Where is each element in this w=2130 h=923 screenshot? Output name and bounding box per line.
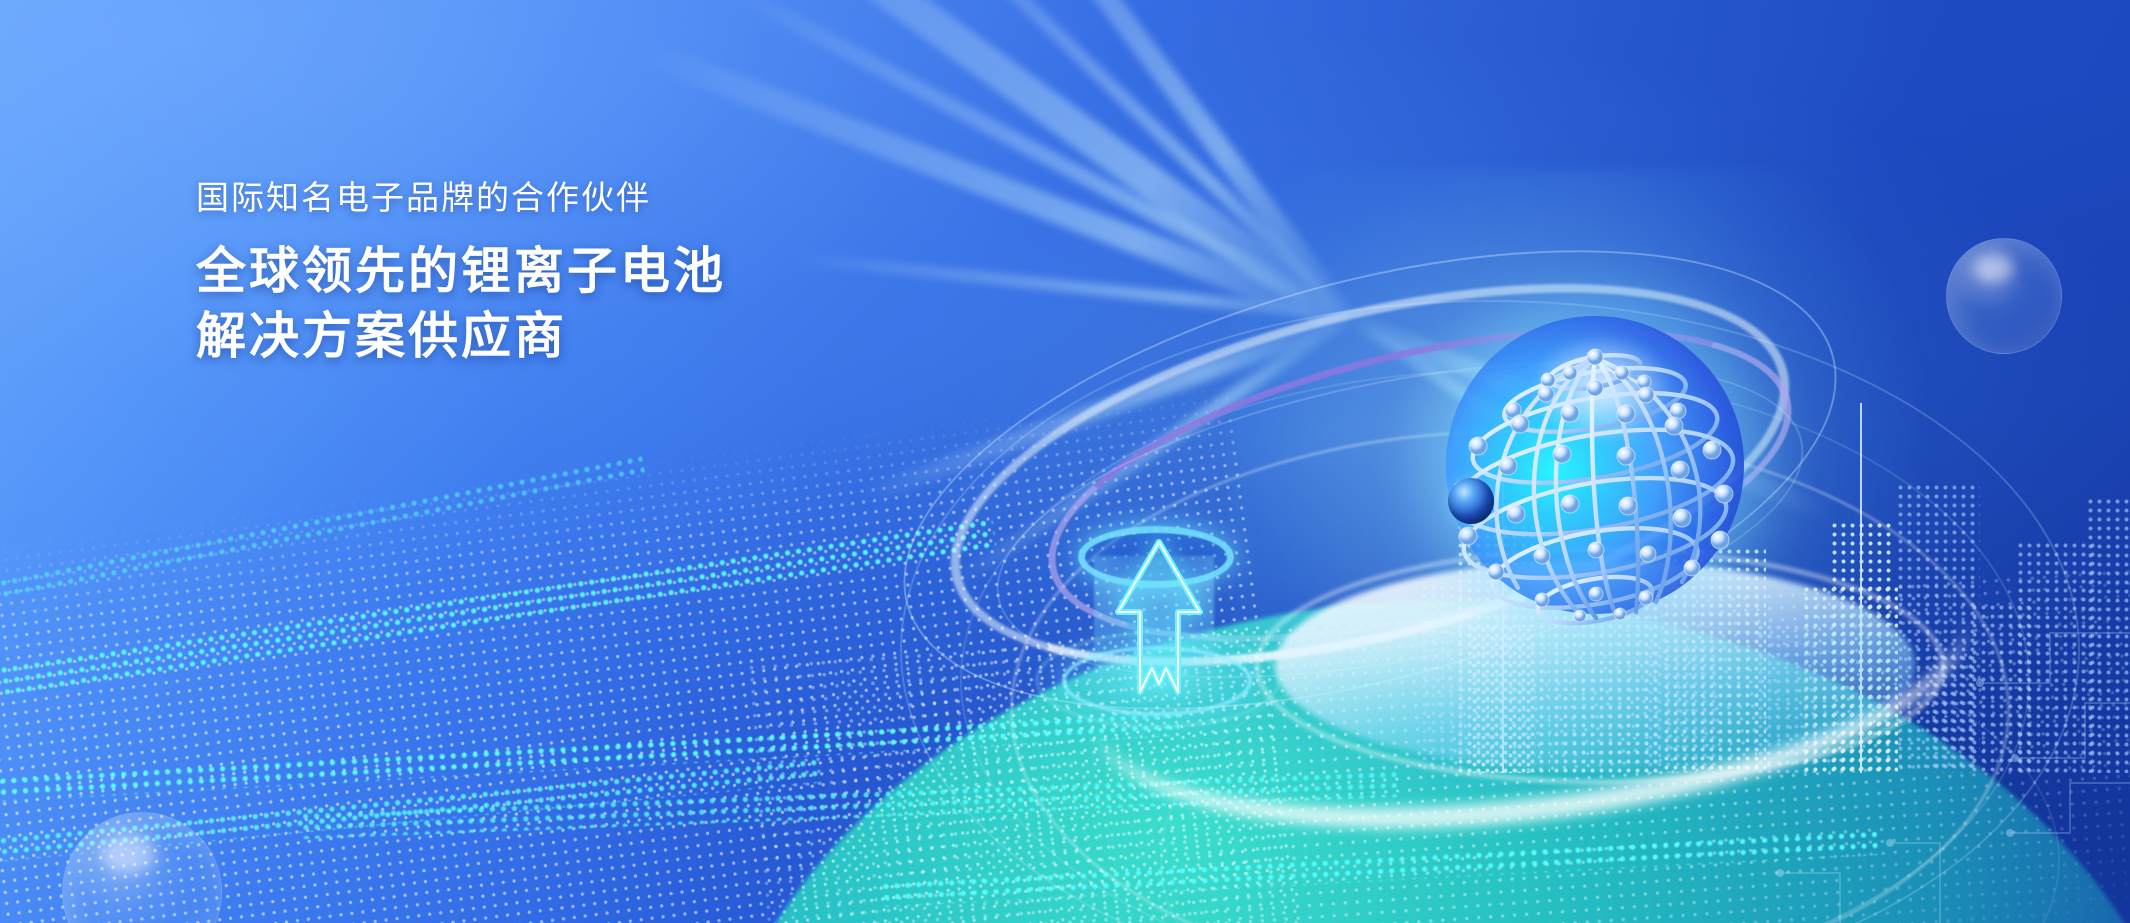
center-glow-overlay — [0, 0, 2130, 923]
up-arrow-portal-icon — [1070, 520, 1250, 710]
globe-node-sphere — [1448, 478, 1494, 524]
dot-ribbon — [300, 769, 1400, 839]
dot-ribbon — [0, 453, 646, 610]
teal-disc-graphic — [700, 600, 2130, 923]
dot-ribbon — [0, 517, 996, 703]
hero-eyebrow: 国际知名电子品牌的合作伙伴 — [196, 176, 1096, 221]
circuit-trace-icon — [1510, 593, 2130, 923]
headline-line-2: 解决方案供应商 — [196, 304, 1096, 369]
hero-banner: 国际知名电子品牌的合作伙伴 全球领先的锂离子电池 解决方案供应商 — [0, 0, 2130, 923]
background-highlight-overlay — [0, 0, 2130, 923]
hero-copy: 国际知名电子品牌的合作伙伴 全球领先的锂离子电池 解决方案供应商 — [196, 176, 1096, 369]
wireframe-globe-icon — [1430, 300, 1760, 630]
dot-ribbon — [880, 829, 1880, 907]
dot-ribbon — [0, 710, 1180, 806]
page-title: 全球领先的锂离子电池 解决方案供应商 — [196, 239, 1096, 369]
decorative-arc — [1160, 620, 2060, 923]
background-shadow-overlay — [0, 0, 2130, 923]
glass-bubble-icon — [62, 812, 222, 923]
headline-line-1: 全球领先的锂离子电池 — [196, 239, 1096, 304]
glass-bubble-icon — [1946, 238, 2062, 354]
